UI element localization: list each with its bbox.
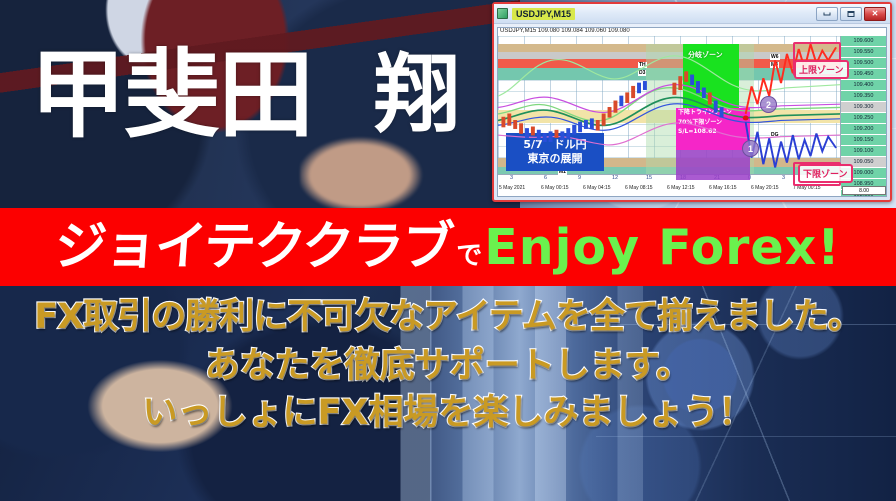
minimize-icon	[824, 12, 831, 15]
tagline-2-text: あなたを徹底サポートします。	[205, 346, 692, 386]
sl-line-1: 下降トラインゾーン	[676, 108, 750, 118]
time-tick-date: 6 May 08:15	[625, 185, 653, 191]
chart-window-title: USDJPY,M15	[512, 8, 575, 20]
presenter-given-name: 翔	[374, 52, 460, 138]
price-axis[interactable]: 109.600109.550109.500109.450109.400109.3…	[840, 36, 886, 174]
sl-line-2: 70%下限ゾーン	[676, 118, 750, 128]
window-controls[interactable]: ✕	[816, 7, 887, 21]
time-tick-hour: 9	[578, 175, 581, 181]
presenter-name: 甲斐田 翔	[0, 30, 500, 160]
time-tick-hour: 15	[646, 175, 652, 181]
last-price-box: 8.00	[842, 186, 886, 195]
price-tick: 109.600	[841, 36, 886, 47]
chart-plot-area[interactable]: 分岐ゾーン	[498, 36, 840, 174]
caption-line-1: 5/7 ドル円	[523, 138, 586, 152]
time-axis-dates: 5 May 20216 May 00:156 May 04:156 May 08…	[498, 185, 840, 196]
chart-quote-line: USDJPY,M15 109.080 109.084 109.060 109.0…	[500, 28, 630, 34]
tagline-group: FX取引の勝利に不可欠なアイテムを全て揃えました。 あなたを徹底サポートします。…	[0, 286, 896, 501]
time-tick-date: 6 May 04:15	[583, 185, 611, 191]
price-tick: 109.200	[841, 124, 886, 135]
close-button[interactable]: ✕	[864, 7, 886, 21]
maximize-icon	[848, 11, 855, 17]
tagline-2: あなたを徹底サポートします。	[205, 349, 692, 384]
tagline-3: いっしょにFX相場を楽しみましょう！	[143, 396, 754, 431]
price-tick: 109.400	[841, 80, 886, 91]
line-tag-dg: DG	[770, 132, 780, 138]
brand-banner: ジョイテククラブ で Enjoy Forex!	[0, 208, 896, 286]
time-axis: 36912151821036 5 May 20216 May 00:156 Ma…	[498, 174, 840, 196]
time-tick-date: 6 May 20:15	[751, 185, 779, 191]
time-tick-date: 5 May 2021	[499, 185, 525, 191]
branch-zone-label: 分岐ゾーン	[688, 50, 723, 60]
price-tick: 109.250	[841, 113, 886, 124]
chart-window-titlebar[interactable]: USDJPY,M15 ✕	[494, 4, 890, 24]
brand-particle: で	[456, 243, 482, 269]
brand-slogan-en: Enjoy Forex!	[484, 223, 840, 272]
time-tick-date: 6 May 16:15	[709, 185, 737, 191]
upper-zone-callout: 上限ゾーン	[794, 60, 849, 79]
time-tick-date: 6 May 00:15	[541, 185, 569, 191]
time-tick-date: 6 May 12:15	[667, 185, 695, 191]
promo-banner-stage: 甲斐田 翔 USDJPY,M15 ✕ USDJPY,M15 109.080 10…	[0, 0, 896, 501]
maximize-button[interactable]	[840, 7, 862, 21]
stop-loss-callout-box: 下降トラインゾーン 70%下限ゾーン S/L=108.62	[676, 108, 750, 150]
line-tag-d1: D3	[638, 70, 646, 76]
chart-window-icon	[497, 8, 508, 19]
chart-window[interactable]: USDJPY,M15 ✕ USDJPY,M15 109.080 109.084 …	[492, 2, 892, 202]
close-icon: ✕	[872, 10, 879, 18]
decline-zone-strip: ドル下落ゾーン	[676, 196, 752, 197]
price-tick: 109.350	[841, 91, 886, 102]
tagline-3-text: いっしょにFX相場を楽しみましょう！	[143, 393, 754, 433]
price-tick: 109.150	[841, 135, 886, 146]
chart-caption-box: 5/7 ドル円 東京の展開	[506, 133, 604, 171]
time-tick-hour: 6	[544, 175, 547, 181]
marker-1: 1	[742, 140, 759, 157]
caption-line-2: 東京の展開	[528, 152, 583, 166]
tagline-3-underline	[136, 437, 759, 440]
line-tag-w6: W6	[770, 54, 780, 60]
marker-2: 2	[760, 96, 777, 113]
tagline-1: FX取引の勝利に不可欠なアイテムを全て揃えました。	[34, 300, 861, 335]
time-tick-hour: 3	[510, 175, 513, 181]
lower-zone-callout: 下限ゾーン	[798, 164, 853, 183]
price-tick: 109.550	[841, 47, 886, 58]
line-tag-th: TH	[638, 62, 647, 68]
line-tag-m4: M4	[770, 62, 779, 68]
support-zone-purple	[676, 150, 750, 180]
time-tick-hour: 3	[782, 175, 785, 181]
time-tick-hour: 12	[612, 175, 618, 181]
price-tick: 109.100	[841, 146, 886, 157]
presenter-family-name: 甲斐田	[30, 47, 312, 143]
brand-name-jp: ジョイテククラブ	[54, 221, 455, 273]
price-tick: 109.300	[841, 102, 886, 113]
sl-line-3: S/L=108.62	[676, 127, 750, 137]
minimize-button[interactable]	[816, 7, 838, 21]
chart-canvas[interactable]: USDJPY,M15 109.080 109.084 109.060 109.0…	[497, 27, 887, 197]
